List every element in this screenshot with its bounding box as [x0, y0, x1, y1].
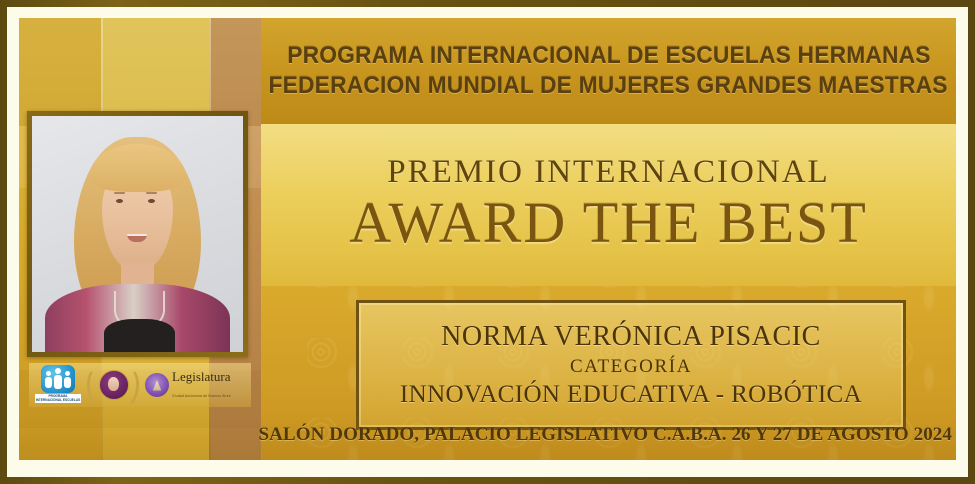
- recipient-category-value: INNOVACIÓN EDUCATIVA - ROBÓTICA: [400, 381, 862, 409]
- logo-legislatura-name: Legislatura: [172, 369, 230, 384]
- recipient-section: NORMA VERÓNICA PISACIC CATEGORÍA INNOVAC…: [261, 286, 956, 460]
- sun-emblem-icon: [145, 373, 169, 397]
- award-title: AWARD THE BEST: [349, 189, 868, 256]
- portrait-photo: [32, 116, 243, 352]
- award-certificate: PROGRAMA INTERNACIONAL ESCUELAS HERMANAS…: [0, 0, 975, 484]
- recipient-category-label: CATEGORÍA: [570, 356, 692, 378]
- logo-legislatura: Legislatura Ciudad Autónoma de Buenos Ai…: [145, 369, 231, 401]
- venue-and-date: SALÓN DORADO, PALACIO LEGISLATIVO C.A.B.…: [258, 424, 952, 446]
- logo-strip: PROGRAMA INTERNACIONAL ESCUELAS HERMANAS…: [29, 363, 251, 407]
- portrait-frame: [27, 111, 248, 357]
- panel-tone-band-top: [19, 18, 261, 126]
- logo-escuelas-hermanas: PROGRAMA INTERNACIONAL ESCUELAS HERMANAS: [35, 365, 81, 405]
- certificate-content: PROGRAMA INTERNACIONAL DE ESCUELAS HERMA…: [261, 18, 956, 460]
- recipient-name: NORMA VERÓNICA PISACIC: [441, 321, 821, 353]
- logo-mujeres-grandes-maestras: [87, 365, 139, 405]
- organization-line-1: PROGRAMA INTERNACIONAL DE ESCUELAS HERMA…: [287, 42, 930, 70]
- certificate-canvas: PROGRAMA INTERNACIONAL ESCUELAS HERMANAS…: [19, 18, 956, 460]
- people-circle-icon: [41, 365, 75, 393]
- organization-header: PROGRAMA INTERNACIONAL DE ESCUELAS HERMA…: [261, 18, 956, 124]
- portrait-brow-left: [114, 192, 125, 194]
- medallion-portrait-icon: [108, 377, 119, 391]
- portrait-eye-right: [148, 199, 155, 203]
- logo-legislatura-subtitle: Ciudad Autónoma de Buenos Aires: [172, 394, 231, 398]
- recipient-name-box: NORMA VERÓNICA PISACIC CATEGORÍA INNOVAC…: [356, 300, 906, 430]
- left-decorative-panel: PROGRAMA INTERNACIONAL ESCUELAS HERMANAS…: [19, 18, 261, 460]
- portrait-brow-right: [146, 192, 157, 194]
- portrait-eye-left: [116, 199, 123, 203]
- award-pretitle: PREMIO INTERNACIONAL: [387, 154, 829, 191]
- certificate-footer: SALÓN DORADO, PALACIO LEGISLATIVO C.A.B.…: [261, 422, 952, 448]
- portrait-foreground-object: [104, 319, 176, 352]
- award-title-band: PREMIO INTERNACIONAL AWARD THE BEST: [261, 124, 956, 286]
- organization-line-2: FEDERACION MUNDIAL DE MUJERES GRANDES MA…: [269, 72, 948, 100]
- logo-escuelas-hermanas-caption: PROGRAMA INTERNACIONAL ESCUELAS HERMANAS: [35, 394, 81, 403]
